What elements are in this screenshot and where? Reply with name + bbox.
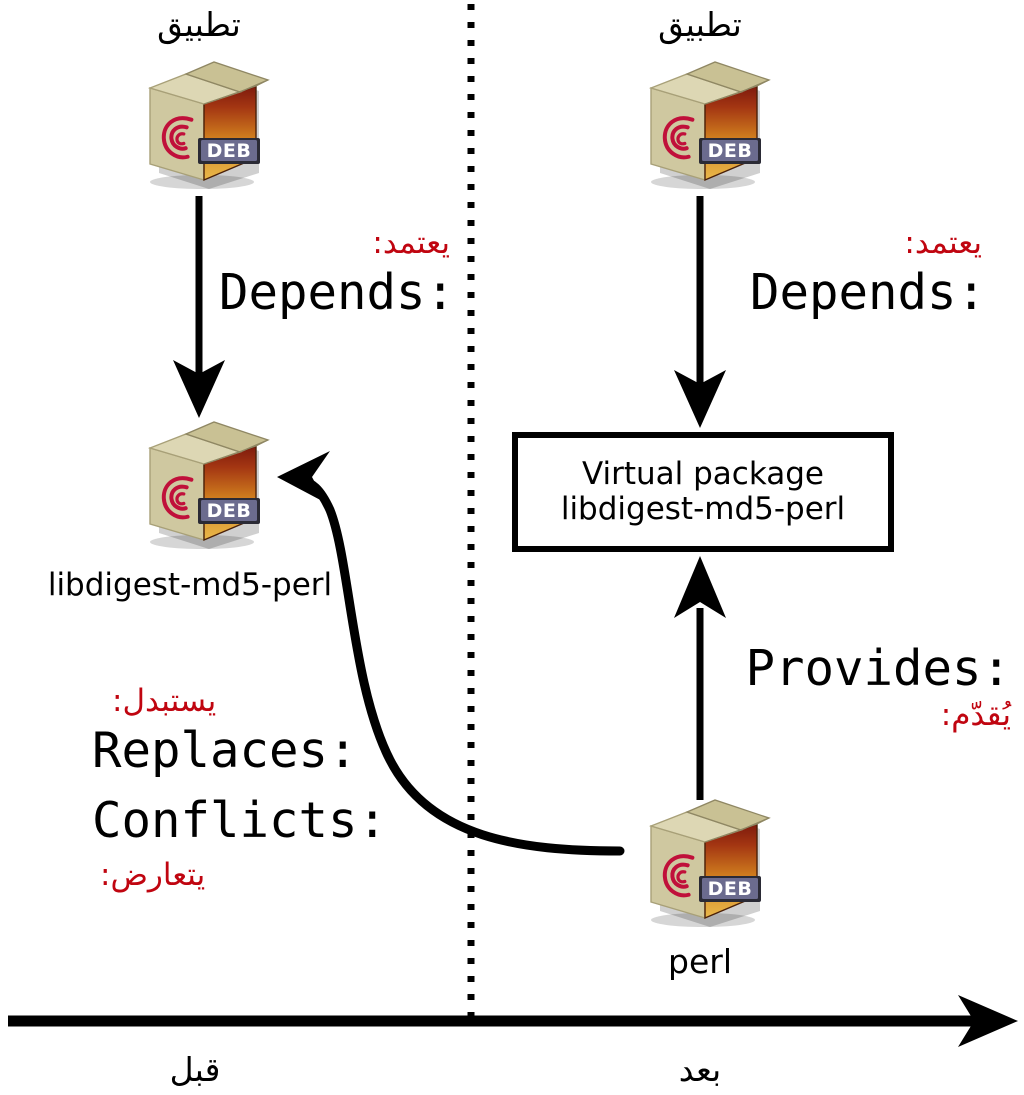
debian-virtual-package-diagram: DEB <box>0 0 1024 1095</box>
package-icon-left-app <box>150 62 268 189</box>
replaces-label: Replaces: <box>92 726 358 775</box>
package-icon-right-app <box>651 62 769 189</box>
timeline-after-label: بعد <box>679 1053 721 1086</box>
perl-label: perl <box>668 945 732 978</box>
left-app-label: تطبيق <box>157 8 241 41</box>
conflicts-arabic-label: يتعارض: <box>100 860 205 891</box>
left-depends-arabic-label: يعتمد: <box>372 228 450 259</box>
left-depends-label: Depends: <box>219 268 455 317</box>
libdigest-md5-perl-label: libdigest-md5-perl <box>48 570 332 601</box>
virtual-package-line1: Virtual package <box>582 457 824 492</box>
arrow-provides <box>674 556 726 800</box>
package-icon-perl <box>651 800 769 927</box>
right-depends-arabic-label: يعتمد: <box>904 228 982 259</box>
provides-arabic-label: يُقدّم: <box>941 700 1011 731</box>
timeline-axis <box>8 995 1018 1047</box>
virtual-package-box: Virtual package libdigest-md5-perl <box>512 432 894 552</box>
timeline-before-label: قبل <box>170 1053 221 1086</box>
right-depends-label: Depends: <box>750 268 986 317</box>
replaces-arabic-label: يستبدل: <box>112 686 216 717</box>
package-icon-libdigest-md5-perl <box>150 422 268 549</box>
provides-label: Provides: <box>745 644 1011 693</box>
arrow-right-depends <box>674 196 726 428</box>
arrow-left-depends <box>173 196 225 418</box>
right-app-label: تطبيق <box>658 8 742 41</box>
conflicts-label: Conflicts: <box>92 796 387 845</box>
virtual-package-line2: libdigest-md5-perl <box>561 492 845 527</box>
